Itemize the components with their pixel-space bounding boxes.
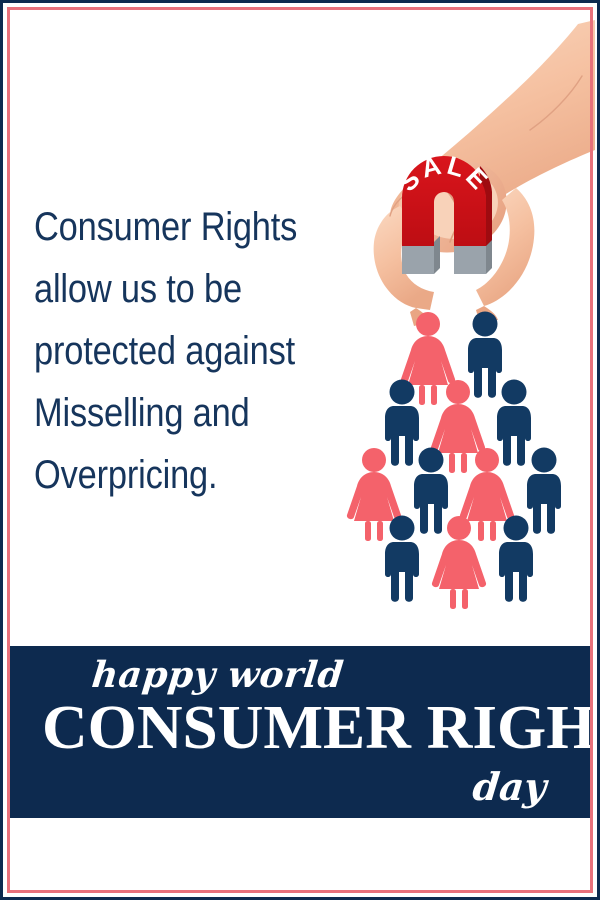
headline-line-3: protected against bbox=[34, 320, 344, 382]
poster-canvas: Consumer Rights allow us to be protected… bbox=[0, 0, 600, 900]
headline-line-1: Consumer Rights bbox=[34, 196, 344, 258]
headline-line-4: Misselling and bbox=[34, 382, 344, 444]
person-man-icon bbox=[497, 380, 531, 466]
magnet-tip-left bbox=[402, 242, 434, 274]
bottom-banner: happy world CONSUMER RIGHTS day bbox=[10, 646, 590, 818]
page-title: Consumer Rights allow us to be protected… bbox=[34, 196, 344, 506]
banner-happy-world: happy world bbox=[90, 654, 346, 696]
person-man-icon bbox=[385, 516, 419, 602]
magnet-tip-right bbox=[454, 242, 486, 274]
person-man-icon bbox=[499, 516, 533, 602]
person-man-icon bbox=[468, 312, 502, 398]
illustration-hand-magnet-crowd: SALE bbox=[330, 10, 595, 635]
crowd-row bbox=[385, 380, 531, 474]
crowd-row bbox=[385, 516, 533, 610]
crowd-group bbox=[347, 312, 561, 610]
banner-main-title: CONSUMER RIGHTS bbox=[42, 696, 589, 760]
headline-line-5: Overpricing. bbox=[34, 444, 344, 506]
person-man-icon bbox=[414, 448, 448, 534]
banner-day: day bbox=[470, 764, 548, 809]
person-man-icon bbox=[527, 448, 561, 534]
person-man-icon bbox=[385, 380, 419, 466]
headline-line-2: allow us to be bbox=[34, 258, 344, 320]
